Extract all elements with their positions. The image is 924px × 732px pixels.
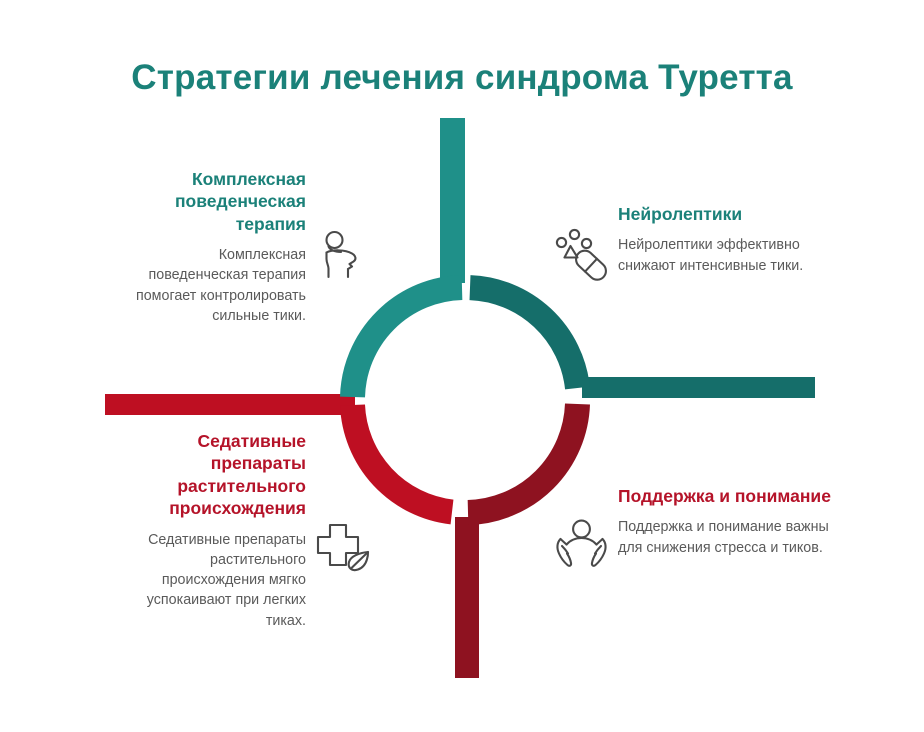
infographic-canvas: Стратегии лечения синдрома Туретта Компл…: [0, 0, 924, 732]
quadrant-cbt: Комплексная поведенческая терапия Компле…: [118, 168, 306, 326]
quadrant-herb-heading: Седативные препараты растительного проис…: [118, 430, 306, 520]
quadrant-supp-heading: Поддержка и понимание: [618, 485, 833, 507]
quadrant-supp: Поддержка и понимание Поддержка и понима…: [618, 485, 833, 558]
medical-cross-leaf-icon: [312, 521, 372, 577]
pills-capsule-icon: [552, 226, 610, 284]
person-supporting-hands-icon: [553, 517, 610, 574]
quadrant-neuro: Нейролептики Нейролептики эффективно сни…: [618, 203, 818, 276]
connector-bottom-stem: [455, 517, 479, 678]
page-title: Стратегии лечения синдрома Туретта: [0, 58, 924, 98]
ring-arc-bottom-left: [353, 405, 453, 512]
quadrant-herb: Седативные препараты растительного проис…: [118, 430, 306, 631]
ring-arc-bottom-right: [468, 404, 578, 513]
person-head-therapy-icon: [312, 227, 368, 283]
quadrant-neuro-heading: Нейролептики: [618, 203, 818, 225]
quadrant-supp-body: Поддержка и понимание важны для снижения…: [618, 517, 833, 558]
connector-top-stem: [440, 118, 465, 283]
connector-right-stem: [582, 377, 815, 398]
ring-arc-top-left: [353, 288, 463, 398]
connector-left-stem: [105, 394, 355, 415]
quadrant-cbt-heading: Комплексная поведенческая терапия: [118, 168, 306, 235]
ring-arc-top-right: [470, 288, 578, 388]
quadrant-neuro-body: Нейролептики эффективно снижают интенсив…: [618, 235, 818, 276]
quadrant-cbt-body: Комплексная поведенческая терапия помога…: [118, 245, 306, 326]
quadrant-herb-body: Седативные препараты растительного проис…: [118, 530, 306, 631]
